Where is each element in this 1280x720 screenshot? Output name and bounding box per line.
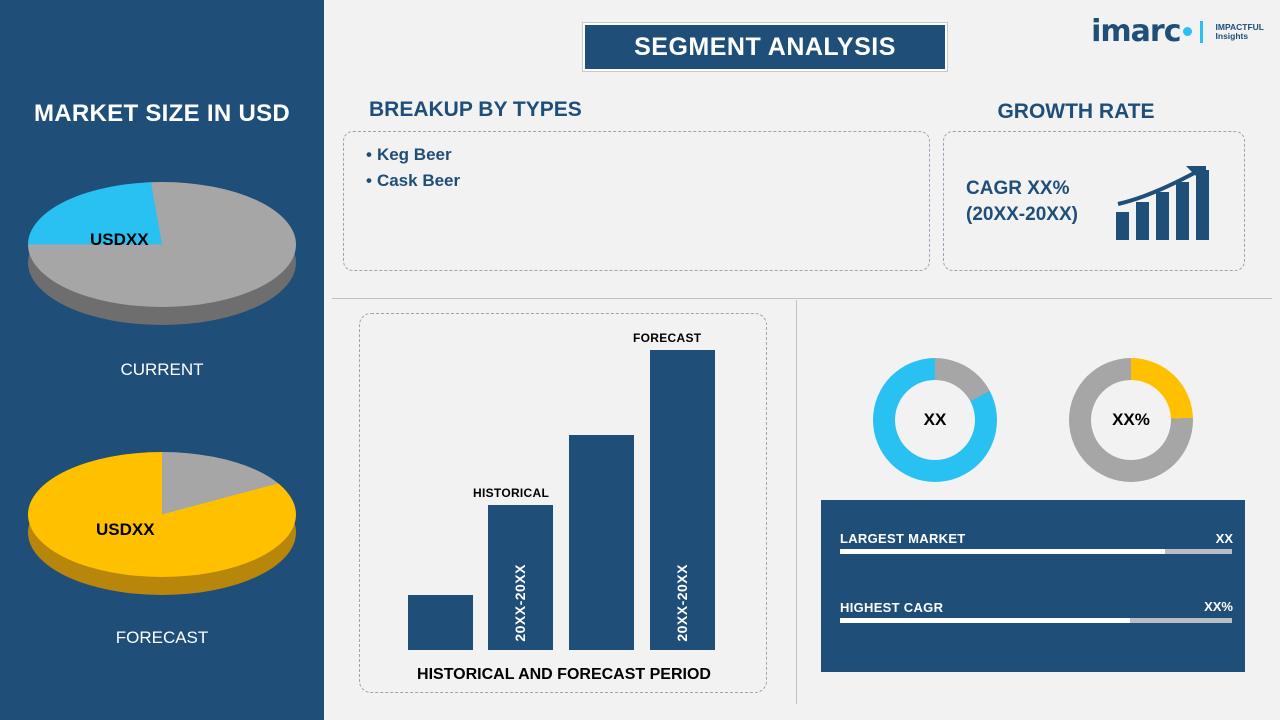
market-size-sidebar: MARKET SIZE IN USD USDXX CURRENT USDXX F… [0, 0, 324, 720]
type-label-1: Cask Beer [377, 171, 460, 190]
bullet-icon: • [366, 171, 372, 190]
growth-rate-heading: GROWTH RATE [941, 100, 1211, 124]
largest-market-fill [840, 549, 1165, 554]
growth-trend-icon [1114, 164, 1222, 242]
segment-analysis-panel: SEGMENT ANALYSIS imarc IMPACTFUL Insight… [324, 0, 1280, 720]
logo-divider [1200, 21, 1203, 43]
highest-cagr-track [840, 618, 1232, 623]
logo-wordmark: imarc [1091, 14, 1180, 49]
breakup-by-types-heading: BREAKUP BY TYPES [369, 98, 582, 122]
largest-market-value: XX [1216, 531, 1233, 546]
highest-cagr-label: HIGHEST CAGR [840, 600, 943, 615]
type-label-0: Keg Beer [377, 145, 452, 164]
bar-2-label: 20XX-20XX [512, 564, 528, 642]
pie-current-top [28, 182, 296, 307]
pie-forecast-label: USDXX [96, 520, 155, 540]
largest-market-track [840, 549, 1232, 554]
pie-chart-current: USDXX [28, 160, 296, 340]
forecast-tag: FORECAST [633, 331, 701, 345]
logo-tagline: IMPACTFUL Insights [1216, 23, 1264, 41]
pie-current-caption: CURRENT [0, 360, 324, 380]
bar-1 [408, 595, 473, 650]
pie-current-label: USDXX [90, 230, 149, 250]
logo-tagline-line2: Insights [1216, 32, 1264, 41]
pie-forecast-caption: FORECAST [0, 628, 324, 648]
page-title: SEGMENT ANALYSIS [634, 33, 896, 62]
cagr-text: CAGR XX% (20XX-20XX) [966, 176, 1078, 227]
donut-chart-left: XX [873, 358, 997, 482]
type-list-item-0: •Keg Beer [366, 145, 907, 165]
bar-3 [569, 435, 634, 650]
sidebar-title: MARKET SIZE IN USD [0, 100, 324, 128]
bullet-icon: • [366, 145, 372, 164]
highest-cagr-fill [840, 618, 1130, 623]
header-banner: SEGMENT ANALYSIS [583, 23, 947, 71]
breakup-by-types-box: •Keg Beer •Cask Beer [343, 131, 930, 271]
pie-chart-forecast: USDXX [28, 430, 296, 610]
donut-chart-right: XX% [1069, 358, 1193, 482]
imarc-logo: imarc IMPACTFUL Insights [1091, 14, 1264, 49]
largest-market-label: LARGEST MARKET [840, 531, 966, 546]
pie-forecast-top [28, 452, 296, 577]
key-metrics-card: LARGEST MARKET XX HIGHEST CAGR XX% [821, 500, 1245, 672]
historical-forecast-chart: 20XX-20XX 20XX-20XX HISTORICAL FORECAST … [359, 313, 767, 693]
growth-rate-box: CAGR XX% (20XX-20XX) [943, 131, 1245, 271]
logo-dot-icon [1183, 27, 1192, 36]
cagr-line2: (20XX-20XX) [966, 202, 1078, 228]
historical-tag: HISTORICAL [473, 486, 549, 500]
bar-4-label: 20XX-20XX [674, 564, 690, 642]
bar-chart-caption: HISTORICAL AND FORECAST PERIOD [360, 666, 768, 684]
cagr-line1: CAGR XX% [966, 176, 1078, 202]
type-list-item-1: •Cask Beer [366, 171, 907, 191]
donut-right-value: XX% [1091, 380, 1171, 460]
vertical-divider [796, 300, 797, 704]
highest-cagr-value: XX% [1204, 599, 1233, 614]
donut-left-value: XX [895, 380, 975, 460]
horizontal-divider [332, 298, 1272, 299]
